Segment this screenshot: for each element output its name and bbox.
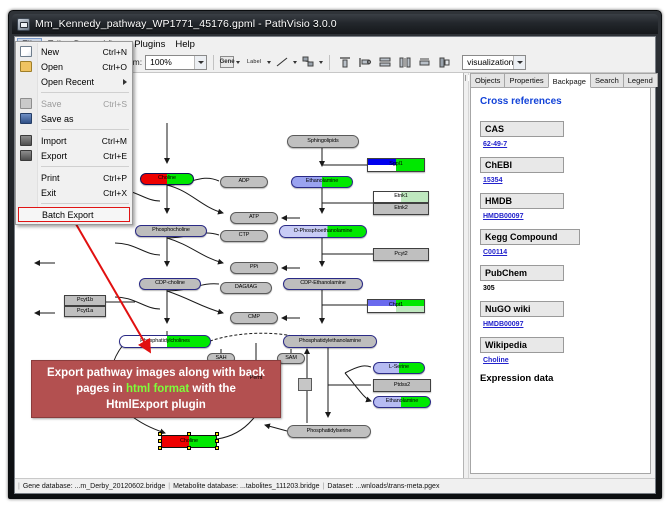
node-pcyt1a[interactable]: Pcyt1a [64,306,106,317]
menu-separator-2 [41,129,129,130]
align-top-icon[interactable] [336,54,353,71]
expression-data-title: Expression data [480,373,641,384]
menu-item-import[interactable]: Import Ctrl+M [16,133,132,148]
node-etnk1[interactable]: Etnk1 [373,191,429,203]
interaction-tool-icon[interactable] [300,54,317,71]
callout-line-3: HtmlExport plugin [47,397,265,413]
geneproduct-tool-icon[interactable]: Gene [220,56,234,68]
visualization-combo[interactable]: visualization [462,55,526,70]
node-ctp[interactable]: CTP [220,230,268,242]
label-dropdown-icon[interactable] [267,61,271,64]
submenu-arrow-icon [123,79,127,85]
node-choline-selected[interactable]: Choline [161,435,217,448]
menu-separator-3 [41,166,129,167]
resize-handle-w[interactable] [158,439,162,443]
menu-item-new[interactable]: New Ctrl+N [16,44,132,59]
bring-to-front-icon[interactable] [436,54,453,71]
same-size-icon[interactable] [416,54,433,71]
xref-value-cas[interactable]: 62-49-7 [483,141,641,148]
menu-item-open[interactable]: Open Ctrl+O [16,59,132,74]
menu-item-save: Save Ctrl+S [16,96,132,111]
line-dropdown-icon[interactable] [293,61,297,64]
xref-value-wikipedia[interactable]: Choline [483,357,641,364]
open-folder-icon [20,61,32,72]
tab-search[interactable]: Search [590,73,624,87]
app-root: Mm_Kennedy_pathway_WP1771_45176.gpml - P… [0,0,670,509]
app-icon [17,18,30,31]
node-dag[interactable]: DAG/IAG [220,282,272,294]
backpage-content: Cross references CAS 62-49-7 ChEBI 15354… [470,88,651,474]
stack-vertical-icon[interactable] [376,54,393,71]
resize-handle-se[interactable] [215,446,219,450]
window-frame: Mm_Kennedy_pathway_WP1771_45176.gpml - P… [8,10,662,499]
visualization-value: visualization [467,57,513,67]
menu-separator-4 [41,203,129,204]
callout-line-2: pages in html format with the [47,381,265,397]
node-chpt1[interactable]: Chpt1 [367,299,425,313]
label-tool-icon[interactable]: Label [243,54,265,71]
line-tool-icon[interactable] [274,54,291,71]
xref-header-hmdb: HMDB [480,193,564,209]
node-ppi[interactable]: PPi [230,262,278,274]
xref-value-kegg-compound[interactable]: C00114 [483,249,641,256]
tab-backpage[interactable]: Backpage [548,73,591,88]
xref-header-kegg-compound: Kegg Compound [480,229,580,245]
align-left-icon[interactable] [356,54,373,71]
xref-value-nugo-wiki[interactable]: HMDB00097 [483,321,641,328]
annotation-callout: Export pathway images along with back pa… [31,360,281,418]
export-icon [20,150,32,161]
node-ptdss2[interactable]: Ptdss2 [373,379,431,392]
node-phosphatidylethanolamine[interactable]: Phosphatidylethanolamine [283,335,377,348]
node-ethanolamine-2[interactable]: Ethanolamine [373,396,431,408]
tab-properties[interactable]: Properties [504,73,548,87]
anchor-box[interactable] [298,378,312,391]
node-ethanolamine[interactable]: Ethanolamine [291,176,353,188]
xref-header-wikipedia: Wikipedia [480,337,564,353]
callout-highlight: html format [126,383,189,395]
import-icon [20,135,32,146]
menu-item-exit[interactable]: Exit Ctrl+X [16,185,132,200]
node-atp[interactable]: ATP [230,212,278,224]
callout-line-1: Export pathway images along with back [47,365,265,381]
node-o-phosphoethanolamine[interactable]: O-Phosphoethanolamine [279,225,367,238]
callout-line-2-a: pages in [76,383,126,395]
new-file-icon [20,46,32,57]
xref-value-chebi[interactable]: 15354 [483,177,641,184]
menu-plugins[interactable]: Plugins [129,38,170,52]
node-cdp-ethanolamine[interactable]: CDP-Ethanolamine [283,278,363,290]
resize-handle-nw[interactable] [158,432,162,436]
menu-item-print[interactable]: Print Ctrl+P [16,170,132,185]
resize-handle-s[interactable] [187,446,191,450]
status-divider-2: | [323,483,325,490]
xref-header-nugo-wiki: NuGO wiki [480,301,564,317]
tab-legend[interactable]: Legend [623,73,658,87]
menu-item-batch-export[interactable]: Batch Export [18,207,130,222]
xref-value-pubchem: 305 [483,285,641,292]
node-sgpl1[interactable]: Sgpl1 [367,158,425,172]
save-icon [20,98,32,109]
toolbar-separator [213,55,214,70]
xref-header-cas: CAS [480,121,564,137]
side-panel: Objects Properties Backpage Search Legen… [464,73,655,478]
node-cdp-choline[interactable]: CDP-choline [139,278,201,290]
visualization-chevron-down-icon[interactable] [513,56,525,69]
node-pcyt2[interactable]: Pcyt2 [373,248,429,261]
status-divider-0: | [18,483,20,490]
geneproduct-dropdown-icon[interactable] [236,61,240,64]
cross-references-title: Cross references [480,96,641,107]
status-bar: | Gene database: ...m_Derby_20120602.bri… [15,478,655,493]
toolbar-separator-2 [329,55,330,70]
title-bar: Mm_Kennedy_pathway_WP1771_45176.gpml - P… [12,14,658,34]
resize-handle-e[interactable] [215,439,219,443]
node-pcyt1b[interactable]: Pcyt1b [64,295,106,306]
tab-objects[interactable]: Objects [470,73,505,87]
node-adp[interactable]: ADP [220,176,268,188]
node-sphingolipids[interactable]: Sphingolipids [287,135,359,148]
resize-handle-sw[interactable] [158,446,162,450]
save-as-icon [20,113,32,124]
menu-item-open-recent[interactable]: Open Recent [16,74,132,89]
xref-header-pubchem: PubChem [480,265,564,281]
status-metabolite-database: Metabolite database: ...tabolites_111203… [173,483,319,490]
file-menu-popup[interactable]: New Ctrl+N Open Ctrl+O Open Recent Save … [15,41,133,225]
zoom-value: 100% [150,57,172,67]
xref-value-hmdb[interactable]: HMDB00097 [483,213,641,220]
resize-handle-n[interactable] [187,432,191,436]
interaction-dropdown-icon[interactable] [319,61,323,64]
side-panel-tabs: Objects Properties Backpage Search Legen… [470,73,655,88]
node-phosphatidylserine[interactable]: Phosphatidylserine [287,425,371,438]
resize-handle-ne[interactable] [215,432,219,436]
status-divider-1: | [168,483,170,490]
menu-item-export[interactable]: Export Ctrl+E [16,148,132,163]
panel-resize-grip[interactable] [464,73,469,478]
node-cmp[interactable]: CMP [230,312,278,324]
window-title: Mm_Kennedy_pathway_WP1771_45176.gpml - P… [35,18,337,30]
zoom-combo[interactable]: 100% [145,55,207,70]
callout-line-2-b: with the [189,383,236,395]
chevron-down-icon[interactable] [194,56,206,69]
node-choline-top[interactable]: Choline [140,173,194,185]
menu-separator-1 [41,92,129,93]
node-phosphatidylcholines[interactable]: Phosphatidylcholines [119,335,211,348]
menu-item-save-as[interactable]: Save as [16,111,132,126]
node-phosphocholine[interactable]: Phosphocholine [135,225,207,237]
status-gene-database: Gene database: ...m_Derby_20120602.bridg… [23,483,165,490]
node-sam[interactable]: SAM [277,353,305,364]
xref-header-chebi: ChEBI [480,157,564,173]
status-dataset: Dataset: ...wnloads\trans-meta.pgex [327,483,439,490]
distribute-horizontal-icon[interactable] [396,54,413,71]
node-l-serine[interactable]: L-Serine [373,362,425,374]
menu-help[interactable]: Help [170,38,200,52]
node-etnk2[interactable]: Etnk2 [373,203,429,215]
